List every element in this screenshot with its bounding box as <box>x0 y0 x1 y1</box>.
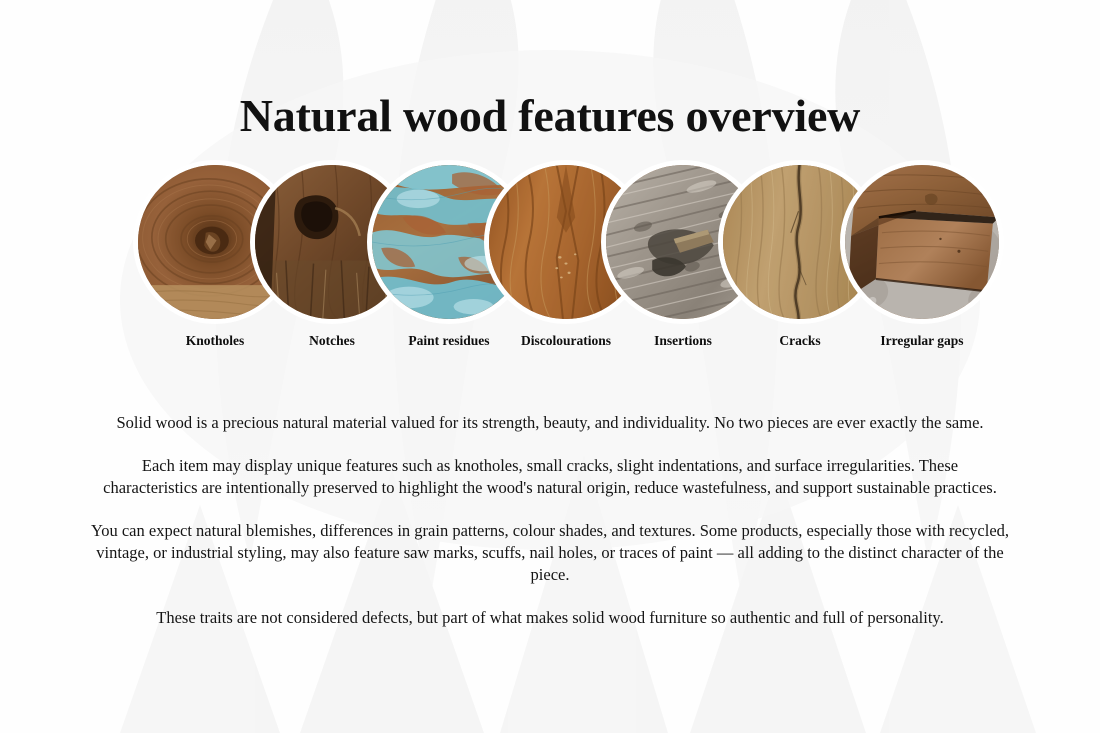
disc-wrapper-irregular-gaps <box>840 160 1004 324</box>
paragraph-4: These traits are not considered defects,… <box>100 607 1000 629</box>
poster-page: Natural wood features overview <box>0 0 1100 733</box>
paragraph-3: You can expect natural blemishes, differ… <box>90 520 1010 586</box>
feature-label-irregular-gaps: Irregular gaps <box>822 332 1022 350</box>
paragraph-2: Each item may display unique features su… <box>100 455 1000 499</box>
wood-disc-irregular-gap-icon <box>840 160 1004 324</box>
body-copy: Solid wood is a precious natural materia… <box>50 412 1050 629</box>
feature-strip: Knotholes <box>0 160 1100 360</box>
paragraph-1: Solid wood is a precious natural materia… <box>80 412 1020 434</box>
page-title: Natural wood features overview <box>0 90 1100 142</box>
